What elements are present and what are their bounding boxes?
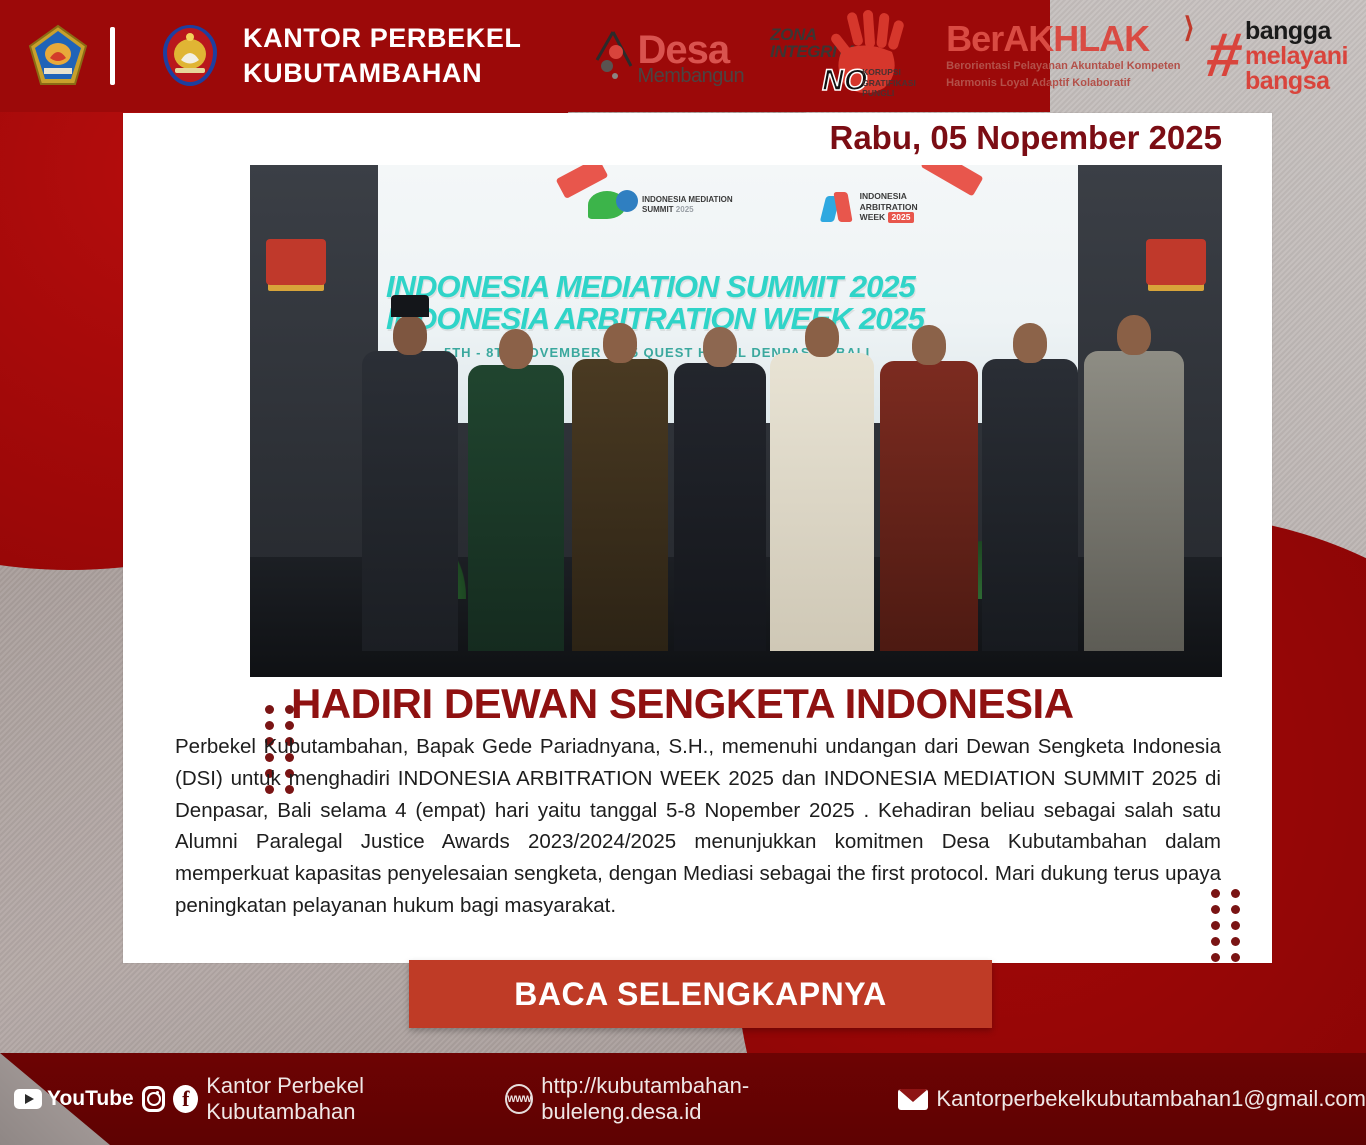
- page-title-line2: KUBUTAMBAHAN: [243, 56, 522, 91]
- logo-bangga-melayani-bangsa: # bangga melayani bangsa: [1207, 19, 1349, 94]
- social-handle: Kantor Perbekel Kubutambahan: [206, 1073, 483, 1125]
- decor-dots-right: [1211, 889, 1242, 962]
- desa-sub: Membangun: [637, 66, 744, 86]
- iaw-logo-line1: INDONESIA: [860, 191, 918, 202]
- bangga-line3: bangsa: [1245, 69, 1348, 94]
- article-body: Perbekel Kubutambahan, Bapak Gede Pariad…: [175, 731, 1221, 922]
- berakhlak-sub2: Harmonis Loyal Adaptif Kolaboratif: [946, 76, 1180, 91]
- post-date: Rabu, 05 Nopember 2025: [830, 119, 1223, 157]
- decor-penjor-right: [1146, 239, 1206, 285]
- berakhlak-sub1: Berorientasi Pelayanan Akuntabel Kompete…: [946, 59, 1180, 74]
- photo-person: [880, 361, 978, 651]
- photo-person: [468, 365, 564, 651]
- page-title-line1: KANTOR PERBEKEL: [243, 21, 522, 56]
- ims-logo-line2: SUMMIT: [642, 205, 674, 214]
- iaw-logo-year: 2025: [888, 212, 915, 223]
- photo-person: [362, 351, 458, 651]
- footer-social-group: YouTube f Kantor Perbekel Kubutambahan: [14, 1073, 483, 1125]
- page-title: KANTOR PERBEKEL KUBUTAMBAHAN: [243, 21, 522, 90]
- photo-person: [572, 359, 668, 651]
- footer-email-group[interactable]: Kantorperbekelkubutambahan1@gmail.com: [898, 1086, 1366, 1112]
- desa-membangun-mark-icon: [589, 26, 635, 84]
- partner-logos: Desa Membangun ZONA INTEGRITAS: [589, 10, 1366, 102]
- backdrop-headline-2: INDONESIA ARBITRATION WEEK 2025: [386, 301, 1086, 337]
- youtube-icon: [14, 1089, 42, 1109]
- read-more-button[interactable]: BACA SELENGKAPNYA: [409, 960, 992, 1028]
- photo-person: [982, 359, 1078, 651]
- event-photo: INDONESIA MEDIATION SUMMIT 2025 INDONESI…: [250, 165, 1222, 677]
- envelope-icon: [898, 1089, 928, 1110]
- berakhlak-arrow-icon: ⟩: [1184, 11, 1195, 44]
- youtube-label: YouTube: [47, 1087, 134, 1111]
- ims-logo-year: 2025: [676, 205, 694, 214]
- decor-penjor-left: [266, 239, 326, 285]
- globe-www-icon: WWW: [505, 1084, 533, 1114]
- indonesia-arbitration-week-logo-icon: INDONESIA ARBITRATION WEEK 2025: [823, 191, 918, 223]
- ims-logo-line1: INDONESIA MEDIATION: [642, 195, 733, 205]
- website-url: http://kubutambahan-buleleng.desa.id: [541, 1073, 878, 1125]
- indonesia-mediation-summit-logo-icon: INDONESIA MEDIATION SUMMIT 2025: [588, 191, 733, 219]
- iaw-logo-line2: ARBITRATION: [860, 202, 918, 213]
- article-headline: HADIRI DEWAN SENGKETA INDONESIA: [291, 683, 1074, 725]
- backdrop-ribbon-right: [921, 165, 984, 197]
- header-divider: [110, 27, 115, 85]
- bangga-line2: melayani: [1245, 44, 1348, 69]
- backdrop-headline-1: INDONESIA MEDIATION SUMMIT 2025: [386, 269, 1086, 305]
- footer-website-group[interactable]: WWW http://kubutambahan-buleleng.desa.id: [505, 1073, 878, 1125]
- photo-person: [770, 353, 874, 651]
- bali-province-crest-icon: [159, 23, 221, 89]
- instagram-icon[interactable]: [142, 1086, 166, 1112]
- facebook-icon[interactable]: f: [173, 1085, 198, 1113]
- logo-berakhlak: BerAKHLAK Berorientasi Pelayanan Akuntab…: [946, 21, 1180, 91]
- backdrop-logo-row: INDONESIA MEDIATION SUMMIT 2025 INDONESI…: [588, 191, 918, 223]
- youtube-link[interactable]: YouTube: [14, 1087, 134, 1111]
- bangga-line1: bangga: [1245, 19, 1348, 44]
- desa-word: Desa: [637, 30, 744, 70]
- photo-person: [674, 363, 766, 651]
- berakhlak-main: BerAKHLAK: [946, 21, 1180, 57]
- content-card: Rabu, 05 Nopember 2025 INDONESIA MEDIATI…: [123, 113, 1272, 963]
- photo-person: [1084, 351, 1184, 651]
- zona-no-text: NO: [822, 64, 867, 98]
- www-label: WWW: [507, 1094, 531, 1104]
- poster-root: KANTOR PERBEKEL KUBUTAMBAHAN Desa: [0, 0, 1366, 1145]
- logo-zona-integritas: ZONA INTEGRITAS NO KORUPSI GRATIFIKASI P…: [770, 10, 920, 102]
- logo-desa-membangun: Desa Membangun: [589, 26, 744, 86]
- buleleng-regency-crest-icon: [26, 23, 90, 89]
- page-header: KANTOR PERBEKEL KUBUTAMBAHAN Desa: [0, 0, 1366, 112]
- hash-icon: #: [1203, 31, 1245, 82]
- email-address: Kantorperbekelkubutambahan1@gmail.com: [936, 1086, 1366, 1112]
- zona-items-text: KORUPSI GRATIFIKASI PUNGLI: [862, 67, 916, 99]
- iaw-logo-line3: WEEK: [860, 212, 886, 222]
- page-footer: YouTube f Kantor Perbekel Kubutambahan W…: [0, 1053, 1366, 1145]
